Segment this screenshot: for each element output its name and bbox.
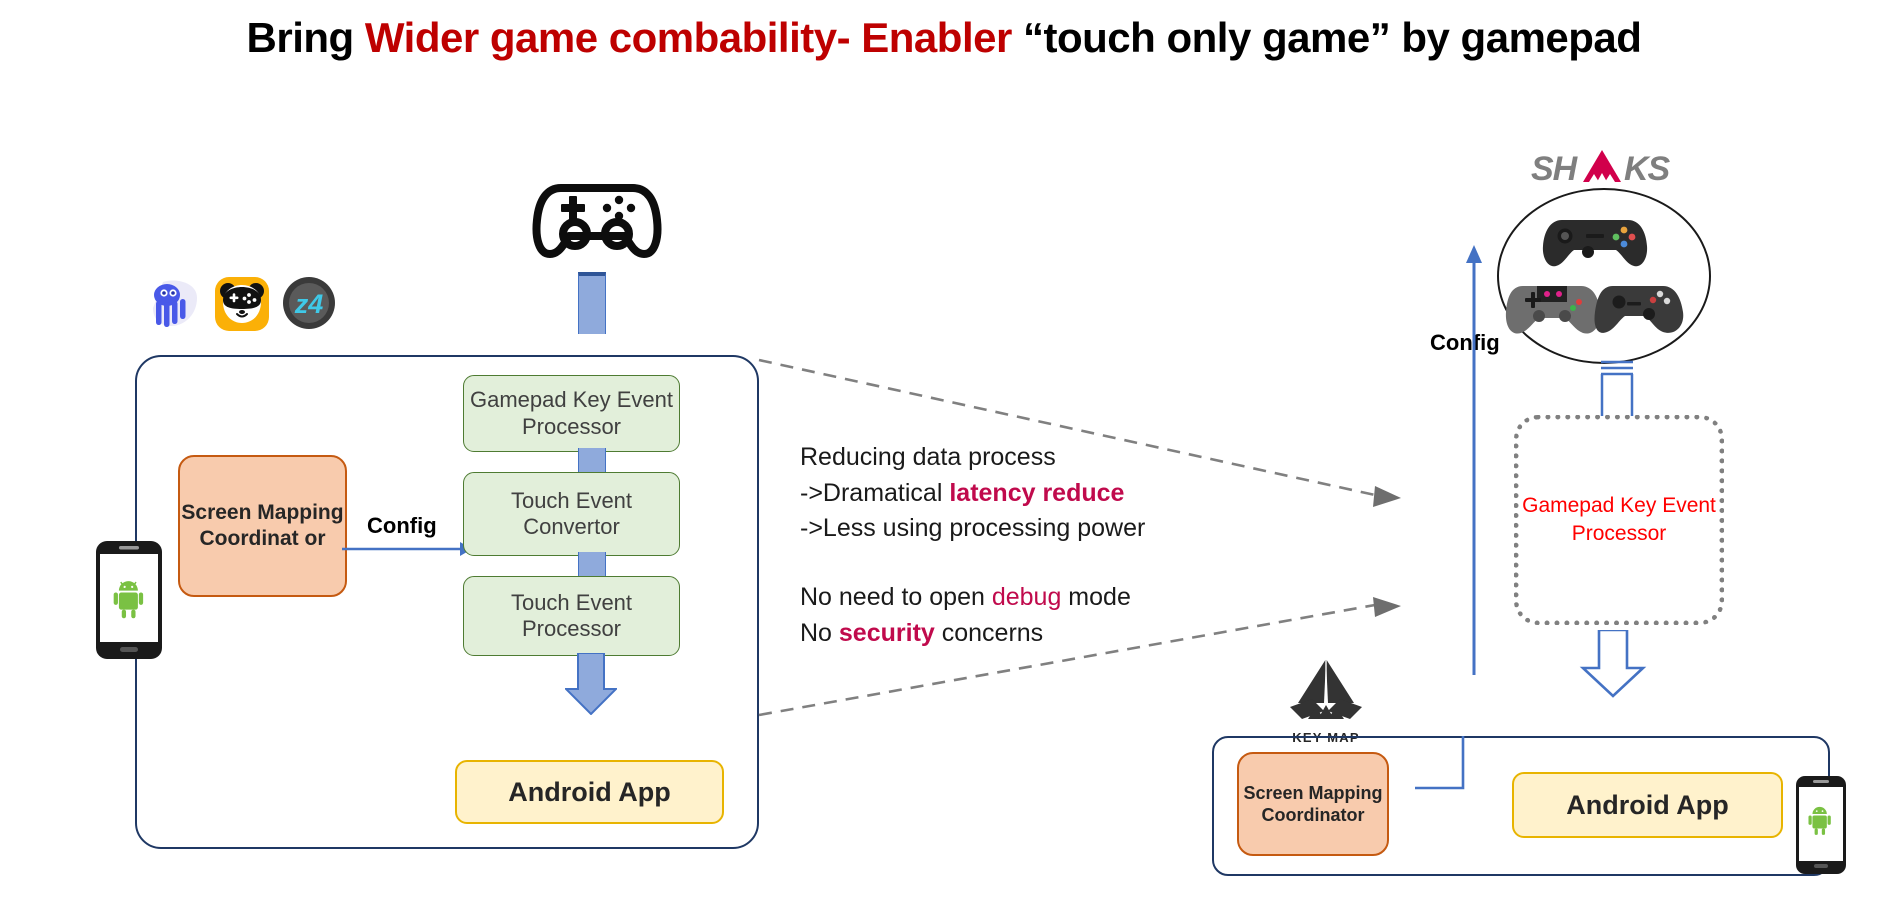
gamepad-icon xyxy=(531,172,663,268)
android-phone-icon-right xyxy=(1795,775,1847,875)
arrow-to-android-app-left xyxy=(565,653,617,715)
slide-canvas: Bring Wider game combability- Enabler “t… xyxy=(0,0,1888,901)
note-block-performance: Reducing data process ->Dramatical laten… xyxy=(800,440,1145,547)
gamepad-key-event-processor-label-right: Gamepad Key Event Processor xyxy=(1519,492,1719,549)
panda-gamepad-app-icon xyxy=(214,276,270,332)
connector-ellipse-to-dotted-box xyxy=(1598,358,1636,416)
title-part-1: Bring xyxy=(247,14,365,61)
config-arrow-left xyxy=(342,538,472,560)
android-app-label-left: Android App xyxy=(508,777,670,808)
page-title: Bring Wider game combability- Enabler “t… xyxy=(0,14,1888,62)
gamepad-key-event-processor-dotted-box[interactable]: Gamepad Key Event Processor xyxy=(1514,415,1724,625)
note-line-security: No security concerns xyxy=(800,616,1131,652)
connector-gamepad-to-processor xyxy=(578,272,606,334)
z4-mod-app-icon: z4 xyxy=(281,275,337,331)
title-part-3: “touch only game” by gamepad xyxy=(1012,14,1642,61)
touch-event-processor-label: Touch Event Processor xyxy=(464,590,679,643)
screen-mapping-coordinator-box-right[interactable]: Screen Mapping Coordinator xyxy=(1237,752,1389,856)
connector-config-elbow xyxy=(1415,736,1477,792)
svg-text:z4: z4 xyxy=(294,289,324,319)
touch-event-convertor-box[interactable]: Touch Event Convertor xyxy=(463,472,680,556)
note-block-security: No need to open debug mode No security c… xyxy=(800,580,1131,651)
security-accent: security xyxy=(839,619,935,647)
octopus-gamepad-app-icon xyxy=(147,276,203,332)
connector-gkep-to-tec xyxy=(578,448,606,474)
title-part-2-highlight: Wider game combability- Enabler xyxy=(365,14,1012,61)
gamepad-key-event-processor-label: Gamepad Key Event Processor xyxy=(464,387,679,440)
screen-mapping-coordinator-label-left: Screen Mapping Coordinat or xyxy=(180,500,345,553)
svg-text:SH: SH xyxy=(1531,150,1579,188)
key-map-logo: KEY MAP xyxy=(1268,655,1384,745)
android-app-box-right[interactable]: Android App xyxy=(1512,772,1783,838)
note-line-reducing: Reducing data process xyxy=(800,440,1145,476)
debug-accent: debug xyxy=(992,583,1062,611)
touch-event-processor-box[interactable]: Touch Event Processor xyxy=(463,576,680,656)
note-line-processing: ->Less using processing power xyxy=(800,511,1145,547)
note-line-latency: ->Dramatical latency reduce xyxy=(800,476,1145,512)
config-arrow-right xyxy=(1463,245,1485,675)
touch-event-convertor-label: Touch Event Convertor xyxy=(464,488,679,541)
latency-reduce-accent: latency reduce xyxy=(949,479,1124,507)
gamepad-collection-photos xyxy=(1505,196,1700,354)
screen-mapping-coordinator-box-left[interactable]: Screen Mapping Coordinat or xyxy=(178,455,347,597)
android-app-box-left[interactable]: Android App xyxy=(455,760,724,824)
connector-tec-to-tep xyxy=(578,552,606,578)
screen-mapping-coordinator-label-right: Screen Mapping Coordinator xyxy=(1239,782,1387,827)
android-app-label-right: Android App xyxy=(1566,790,1728,821)
arrow-to-android-app-right xyxy=(1578,630,1648,698)
svg-text:KS: KS xyxy=(1624,150,1671,188)
config-label-left: Config xyxy=(367,513,437,539)
android-phone-icon-left xyxy=(95,540,163,660)
gamepad-key-event-processor-box[interactable]: Gamepad Key Event Processor xyxy=(463,375,680,452)
note-line-debug: No need to open debug mode xyxy=(800,580,1131,616)
